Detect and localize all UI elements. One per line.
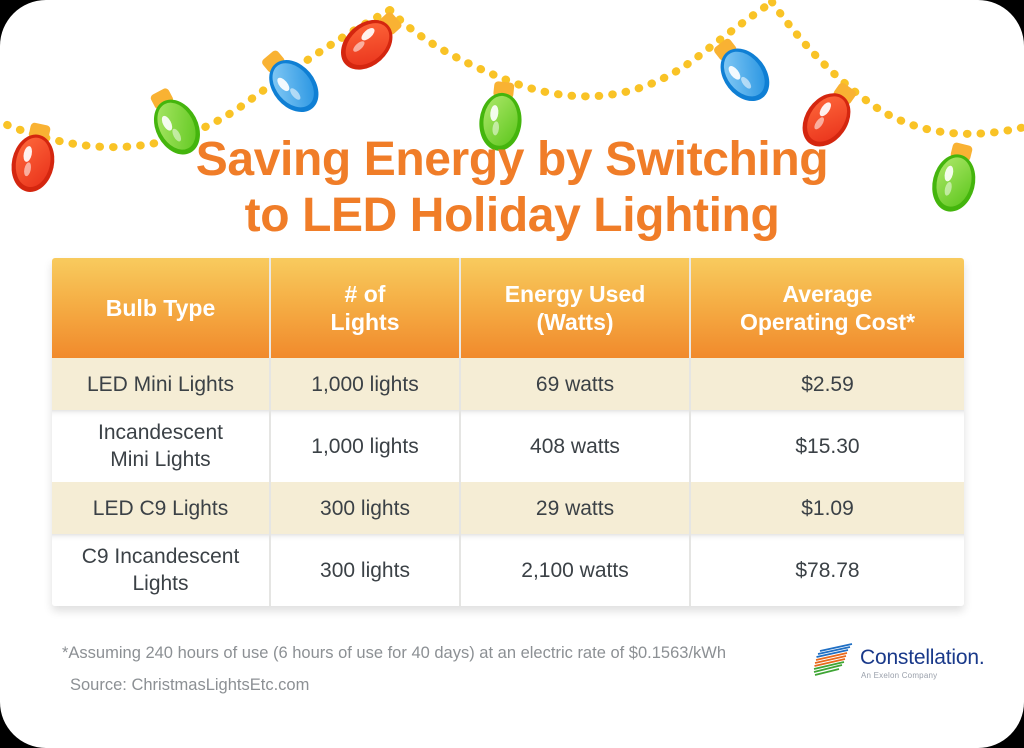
footnote-source: Source: ChristmasLightsEtc.com	[62, 669, 802, 701]
cell-bulb-type: LED C9 Lights	[52, 482, 270, 534]
table-header-row: Bulb Type # of Lights Energy Used (Watts…	[52, 258, 964, 358]
logo-tagline: An Exelon Company	[861, 671, 937, 680]
cell-line2: Mini Lights	[110, 448, 210, 471]
constellation-mark-icon	[812, 642, 856, 676]
column-header-average-cost: Average Operating Cost*	[690, 258, 964, 358]
cell-line1: C9 Incandescent	[82, 545, 240, 568]
table-row: C9 Incandescent Lights 300 lights 2,100 …	[52, 534, 964, 606]
cell-num-lights: 1,000 lights	[270, 410, 460, 482]
column-header-bulb-type: Bulb Type	[52, 258, 270, 358]
infographic-canvas: Saving Energy by Switching to LED Holida…	[0, 0, 1024, 748]
header-label: Bulb Type	[106, 295, 215, 321]
cell-energy-used: 29 watts	[460, 482, 690, 534]
header-label-line1: # of	[345, 281, 386, 307]
cell-line2: Lights	[132, 572, 188, 595]
cell-bulb-type: LED Mini Lights	[52, 358, 270, 410]
header-label-line1: Energy Used	[505, 281, 646, 307]
column-header-num-lights: # of Lights	[270, 258, 460, 358]
logo-wordmark: Constellation.	[860, 646, 984, 670]
header-label-line2: (Watts)	[536, 309, 613, 335]
table-row: LED C9 Lights 300 lights 29 watts $1.09	[52, 482, 964, 534]
footnote-assumption: *Assuming 240 hours of use (6 hours of u…	[62, 637, 802, 669]
header-label-line2: Operating Cost*	[740, 309, 915, 335]
comparison-table: Bulb Type # of Lights Energy Used (Watts…	[52, 258, 964, 606]
cell-num-lights: 1,000 lights	[270, 358, 460, 410]
table-row: LED Mini Lights 1,000 lights 69 watts $2…	[52, 358, 964, 410]
cell-bulb-type: C9 Incandescent Lights	[52, 534, 270, 606]
cell-num-lights: 300 lights	[270, 482, 460, 534]
cell-avg-cost: $78.78	[690, 534, 964, 606]
cell-num-lights: 300 lights	[270, 534, 460, 606]
page-title: Saving Energy by Switching to LED Holida…	[0, 132, 1024, 244]
header-label-line1: Average	[783, 281, 873, 307]
cell-energy-used: 69 watts	[460, 358, 690, 410]
title-line-1: Saving Energy by Switching	[0, 132, 1024, 188]
header-label-line2: Lights	[331, 309, 400, 335]
cell-avg-cost: $1.09	[690, 482, 964, 534]
title-line-2: to LED Holiday Lighting	[0, 188, 1024, 244]
cell-energy-used: 408 watts	[460, 410, 690, 482]
cell-avg-cost: $2.59	[690, 358, 964, 410]
cell-energy-used: 2,100 watts	[460, 534, 690, 606]
comparison-table-container: Bulb Type # of Lights Energy Used (Watts…	[52, 258, 964, 606]
column-header-energy-used: Energy Used (Watts)	[460, 258, 690, 358]
cell-bulb-type: Incandescent Mini Lights	[52, 410, 270, 482]
cell-line1: Incandescent	[98, 421, 223, 444]
constellation-logo: Constellation. An Exelon Company	[812, 640, 992, 690]
footnotes: *Assuming 240 hours of use (6 hours of u…	[62, 637, 802, 701]
cell-avg-cost: $15.30	[690, 410, 964, 482]
bulb-blue-1	[252, 42, 329, 122]
bulb-red-2	[331, 2, 410, 79]
light-wire	[0, 2, 1024, 147]
table-row: Incandescent Mini Lights 1,000 lights 40…	[52, 410, 964, 482]
bulb-blue-2	[704, 30, 780, 110]
logo-name-text: Constellation	[860, 646, 979, 669]
logo-trademark-dot: .	[979, 646, 985, 669]
